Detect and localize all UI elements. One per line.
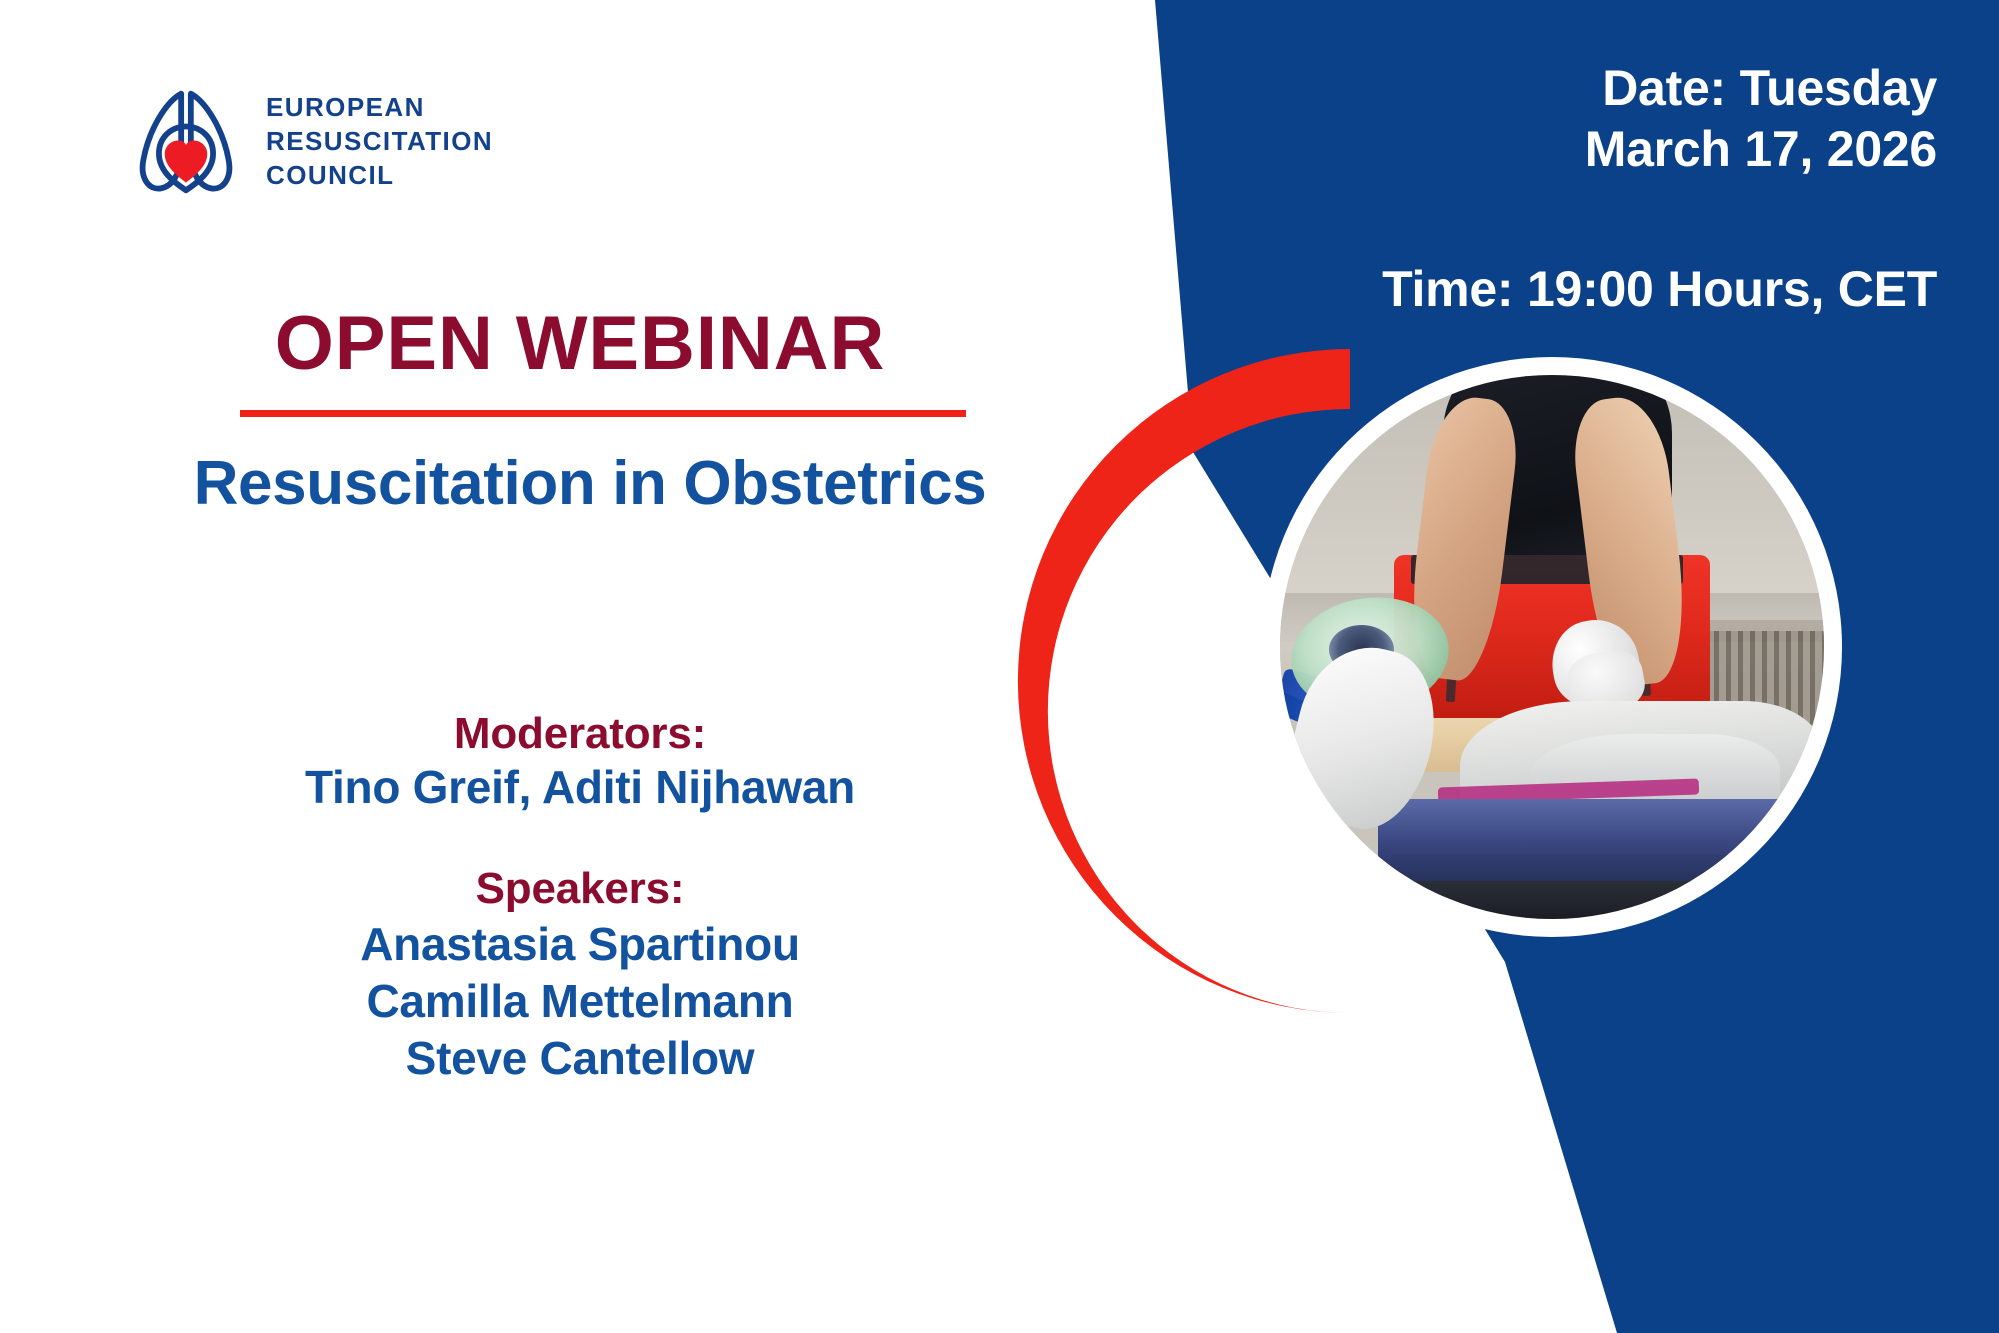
speaker-name-3: Steve Cantellow: [0, 1031, 1160, 1086]
title-divider: [240, 410, 966, 417]
event-date: Date: Tuesday March 17, 2026: [1585, 58, 1937, 180]
erc-logo-wordmark: EUROPEAN RESUSCITATION COUNCIL: [266, 90, 493, 193]
logo-line-1: EUROPEAN: [266, 90, 493, 124]
webinar-subject: Resuscitation in Obstetrics: [0, 448, 1180, 519]
logo-line-3: COUNCIL: [266, 158, 493, 192]
event-date-line-1: Date: Tuesday: [1585, 58, 1937, 119]
speakers-label: Speakers:: [0, 863, 1160, 915]
photo-floor: [1280, 881, 1824, 919]
erc-logo: EUROPEAN RESUSCITATION COUNCIL: [128, 82, 493, 200]
event-time: Time: 19:00 Hours, CET: [1382, 260, 1937, 318]
left-content-column: EUROPEAN RESUSCITATION COUNCIL OPEN WEBI…: [0, 0, 1160, 1333]
moderators-label: Moderators:: [0, 708, 1160, 760]
speaker-name-2: Camilla Mettelmann: [0, 974, 1160, 1029]
logo-line-2: RESUSCITATION: [266, 124, 493, 158]
photo-circle-frame: [1262, 357, 1842, 937]
speakers-names: Anastasia Spartinou Camilla Mettelmann S…: [0, 917, 1160, 1087]
event-date-line-2: March 17, 2026: [1585, 119, 1937, 180]
people-block: Moderators: Tino Greif, Aditi Nijhawan S…: [0, 708, 1160, 1087]
webinar-poster: EUROPEAN RESUSCITATION COUNCIL OPEN WEBI…: [0, 0, 1999, 1333]
erc-lungs-heart-logo-icon: [128, 82, 244, 200]
cpr-training-photo: [1280, 375, 1824, 919]
page-title: OPEN WEBINAR: [0, 300, 1160, 387]
moderators-names: Tino Greif, Aditi Nijhawan: [0, 760, 1160, 815]
speaker-name-1: Anastasia Spartinou: [0, 917, 1160, 972]
spacer: [0, 815, 1160, 863]
